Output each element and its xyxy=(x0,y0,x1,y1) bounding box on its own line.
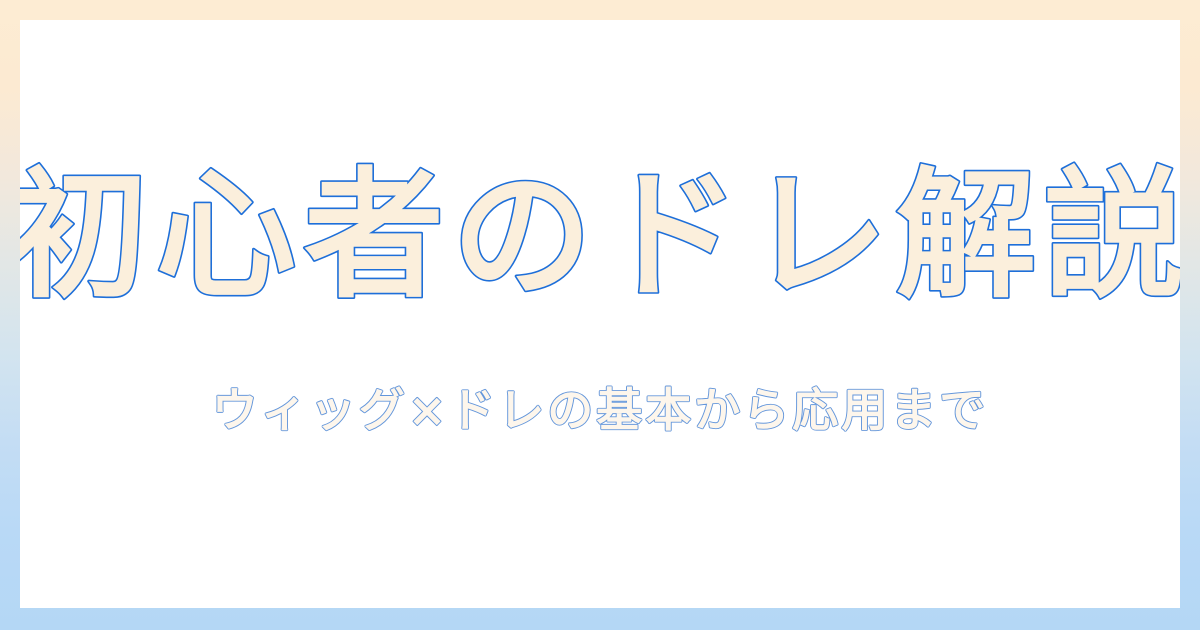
banner-root: 初心者のドレ解説 ウィッグ×ドレの基本から応用まで xyxy=(0,0,1200,630)
title-block: 初心者のドレ解説 xyxy=(20,156,1180,336)
banner-subtitle: ウィッグ×ドレの基本から応用まで xyxy=(212,383,989,437)
banner-content: 初心者のドレ解説 ウィッグ×ドレの基本から応用まで xyxy=(20,20,1180,608)
banner-title: 初心者のドレ解説 xyxy=(20,156,1180,318)
white-card-panel: 初心者のドレ解説 ウィッグ×ドレの基本から応用まで xyxy=(20,20,1180,608)
title-graphic: 初心者のドレ解説 xyxy=(20,156,1180,336)
subtitle-graphic: ウィッグ×ドレの基本から応用まで xyxy=(20,372,1180,450)
subtitle-block: ウィッグ×ドレの基本から応用まで xyxy=(20,372,1180,450)
